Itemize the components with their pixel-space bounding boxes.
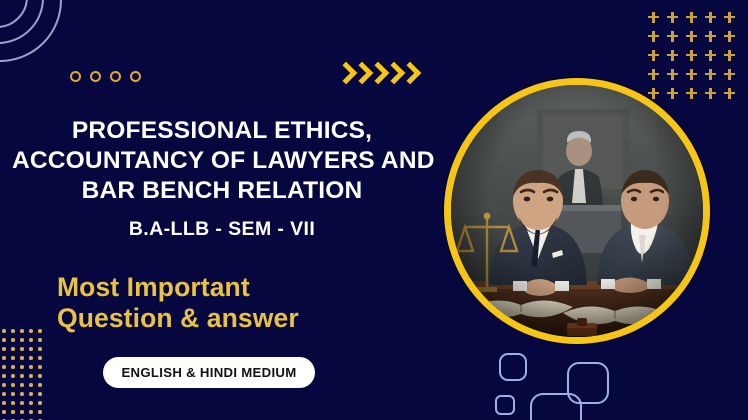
dot-icon bbox=[0, 336, 9, 345]
plus-icon bbox=[662, 46, 681, 65]
dot-icon bbox=[36, 381, 45, 390]
dot-icon bbox=[36, 390, 45, 399]
plus-icon bbox=[662, 65, 681, 84]
plus-icon bbox=[681, 8, 700, 27]
dot-icon bbox=[27, 345, 36, 354]
decorative-ring-row bbox=[70, 71, 141, 82]
thumbnail-canvas: PROFESSIONAL ETHICS, ACCOUNTANCY OF LAWY… bbox=[0, 0, 748, 420]
dot-icon bbox=[18, 327, 27, 336]
chevron-right-icon bbox=[368, 61, 383, 87]
title-line-2: ACCOUNTANCY OF LAWYERS AND bbox=[12, 146, 432, 176]
plus-icon bbox=[681, 27, 700, 46]
dot-icon bbox=[18, 390, 27, 399]
dot-icon bbox=[18, 399, 27, 408]
plus-icon bbox=[700, 46, 719, 65]
plus-icon bbox=[662, 8, 681, 27]
dot-icon bbox=[27, 336, 36, 345]
plus-icon bbox=[700, 27, 719, 46]
dot-icon bbox=[27, 363, 36, 372]
courtroom-scene-graphic bbox=[451, 85, 703, 337]
plus-icon bbox=[662, 27, 681, 46]
decorative-chevron-row bbox=[336, 61, 415, 87]
decorative-rounded-square bbox=[499, 353, 527, 381]
chevron-right-icon bbox=[384, 61, 399, 87]
dot-icon bbox=[27, 399, 36, 408]
dot-icon bbox=[9, 345, 18, 354]
plus-icon bbox=[700, 65, 719, 84]
dot-icon bbox=[18, 336, 27, 345]
dot-icon bbox=[9, 354, 18, 363]
plus-icon bbox=[719, 8, 738, 27]
dot-icon bbox=[0, 381, 9, 390]
plus-icon bbox=[719, 27, 738, 46]
dot-icon bbox=[9, 327, 18, 336]
decorative-rounded-square bbox=[530, 393, 582, 420]
dot-icon bbox=[0, 363, 9, 372]
plus-icon bbox=[719, 65, 738, 84]
chevron-right-icon bbox=[336, 61, 351, 87]
plus-icon bbox=[681, 65, 700, 84]
dot-icon bbox=[18, 354, 27, 363]
dot-icon bbox=[0, 372, 9, 381]
dot-icon bbox=[0, 327, 9, 336]
dot-icon bbox=[0, 399, 9, 408]
dot-icon bbox=[27, 408, 36, 417]
plus-icon bbox=[700, 8, 719, 27]
dot-icon bbox=[9, 399, 18, 408]
dot-icon bbox=[27, 372, 36, 381]
dot-icon bbox=[18, 372, 27, 381]
ring-dot-icon bbox=[70, 71, 81, 82]
dot-icon bbox=[18, 381, 27, 390]
dot-icon bbox=[27, 354, 36, 363]
plus-icon bbox=[719, 84, 738, 103]
promo-line-1: Most Important bbox=[57, 272, 299, 303]
dot-icon bbox=[9, 390, 18, 399]
title-line-3: BAR BENCH RELATION bbox=[12, 176, 432, 206]
dot-icon bbox=[36, 372, 45, 381]
dot-icon bbox=[9, 372, 18, 381]
ring-dot-icon bbox=[90, 71, 101, 82]
plus-icon bbox=[719, 46, 738, 65]
dot-icon bbox=[0, 390, 9, 399]
dot-icon bbox=[9, 363, 18, 372]
dot-icon bbox=[36, 408, 45, 417]
dot-icon bbox=[36, 363, 45, 372]
medium-badge: ENGLISH & HINDI MEDIUM bbox=[103, 357, 315, 388]
dot-icon bbox=[27, 327, 36, 336]
dot-icon bbox=[0, 345, 9, 354]
dot-icon bbox=[27, 381, 36, 390]
ring-dot-icon bbox=[110, 71, 121, 82]
promo-text: Most Important Question & answer bbox=[57, 272, 299, 333]
plus-icon bbox=[681, 46, 700, 65]
courtroom-photo bbox=[444, 78, 710, 344]
plus-icon bbox=[643, 27, 662, 46]
ring-dot-icon bbox=[130, 71, 141, 82]
decorative-dot-grid bbox=[0, 327, 45, 420]
dot-icon bbox=[36, 336, 45, 345]
chevron-right-icon bbox=[400, 61, 415, 87]
dot-icon bbox=[36, 354, 45, 363]
courtroom-illustration bbox=[451, 85, 703, 337]
dot-icon bbox=[9, 381, 18, 390]
dot-icon bbox=[18, 363, 27, 372]
page-title: PROFESSIONAL ETHICS, ACCOUNTANCY OF LAWY… bbox=[12, 116, 432, 206]
dot-icon bbox=[9, 408, 18, 417]
chevron-right-icon bbox=[352, 61, 367, 87]
plus-icon bbox=[643, 8, 662, 27]
dot-icon bbox=[36, 399, 45, 408]
title-line-1: PROFESSIONAL ETHICS, bbox=[12, 116, 432, 146]
dot-icon bbox=[18, 345, 27, 354]
dot-icon bbox=[0, 408, 9, 417]
plus-icon bbox=[643, 65, 662, 84]
dot-icon bbox=[36, 345, 45, 354]
dot-icon bbox=[36, 327, 45, 336]
promo-line-2: Question & answer bbox=[57, 303, 299, 334]
decorative-rounded-square bbox=[495, 395, 515, 415]
dot-icon bbox=[0, 354, 9, 363]
dot-icon bbox=[18, 408, 27, 417]
plus-icon bbox=[643, 46, 662, 65]
course-subtitle: B.A-LLB - SEM - VII bbox=[12, 218, 432, 241]
dot-icon bbox=[9, 336, 18, 345]
dot-icon bbox=[27, 390, 36, 399]
